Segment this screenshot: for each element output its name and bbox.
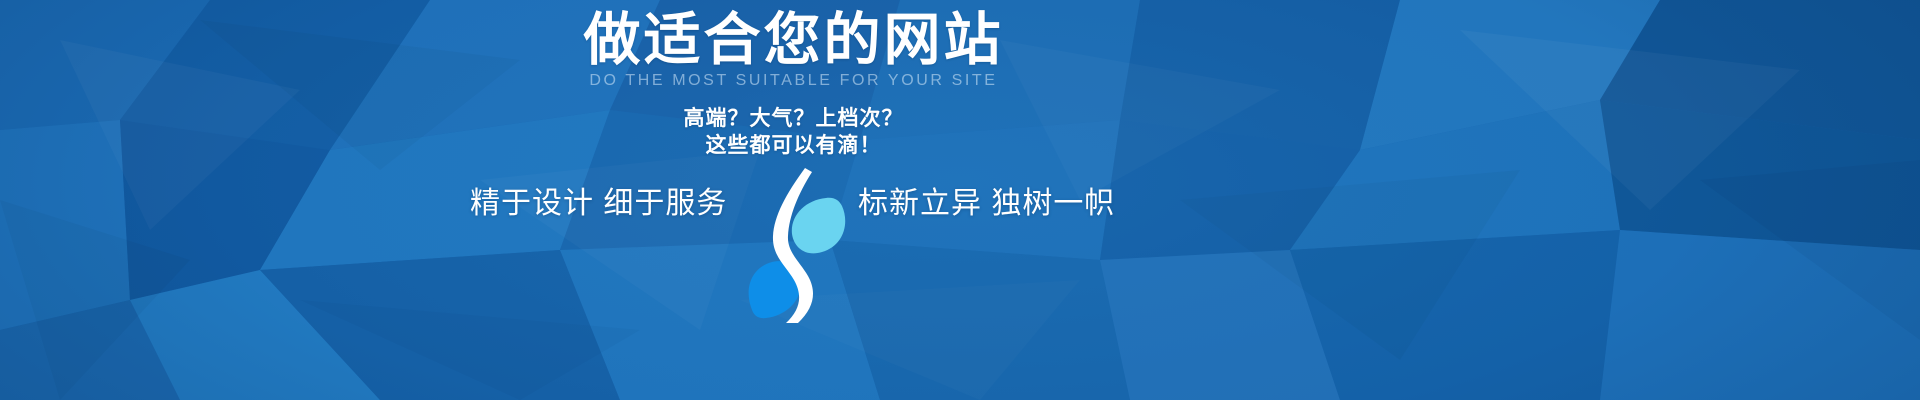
banner-content: 做适合您的网站 DO THE MOST SUITABLE FOR YOUR SI… — [0, 0, 1920, 400]
hero-banner: 做适合您的网站 DO THE MOST SUITABLE FOR YOUR SI… — [0, 0, 1920, 400]
banner-slogan-left: 精于设计 细于服务 — [470, 183, 727, 225]
banner-headline: 做适合您的网站 — [0, 8, 1587, 72]
banner-subheadline-english: DO THE MOST SUITABLE FOR YOUR SITE — [0, 70, 1587, 92]
sprout-logo-icon — [742, 168, 852, 323]
banner-slogan-right: 标新立异 独树一帜 — [858, 183, 1115, 225]
banner-tagline-line-2: 这些都可以有滴！ — [0, 133, 1587, 159]
banner-tagline-line-1: 高端？大气？上档次？ — [0, 106, 1587, 132]
